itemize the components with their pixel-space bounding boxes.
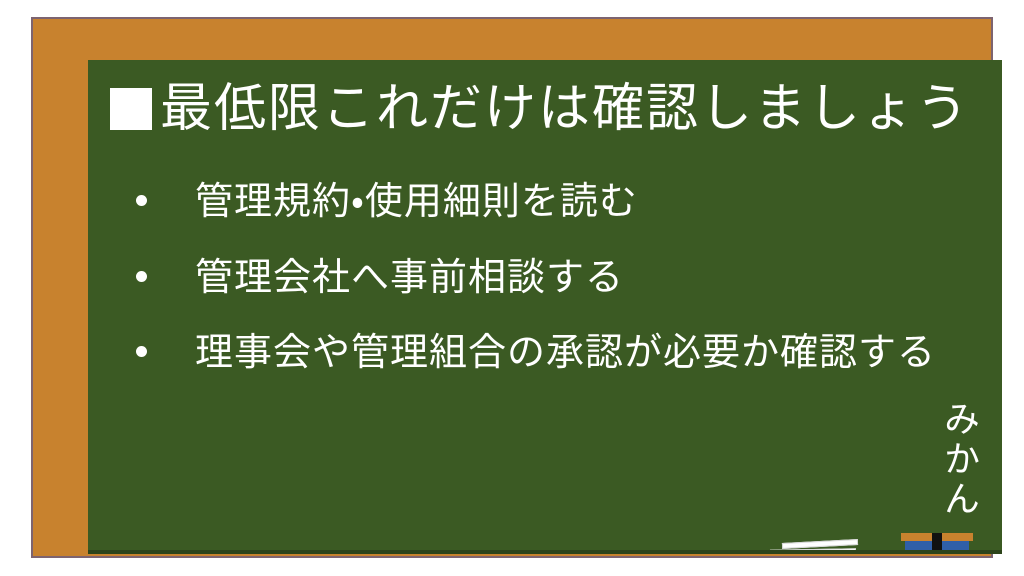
bullet-dot-icon (136, 271, 147, 282)
list-item: 理事会や管理組合の承認が必要か確認する (136, 329, 996, 377)
slide-title: 最低限これだけは確認しましょう (110, 82, 994, 137)
blackboard-surface: 最低限これだけは確認しましょう 管理規約・使用細則を読む 管理会社へ事前相談する… (88, 60, 1002, 554)
bullet-dot-icon (136, 346, 147, 357)
bullet-dot-icon (136, 195, 147, 206)
title-square-marker-icon (110, 88, 152, 130)
list-item: 管理規約・使用細則を読む (136, 178, 996, 226)
blackboard-wooden-frame: 最低限これだけは確認しましょう 管理規約・使用細則を読む 管理会社へ事前相談する… (31, 17, 993, 558)
list-item-label: 管理規約・使用細則を読む (195, 178, 638, 226)
title-text: 最低限これだけは確認しましょう (160, 82, 970, 137)
slide-canvas: 最低限これだけは確認しましょう 管理規約・使用細則を読む 管理会社へ事前相談する… (0, 0, 1024, 576)
board-bottom-shadow (88, 550, 1002, 554)
list-item-label: 理事会や管理組合の承認が必要か確認する (195, 329, 936, 377)
list-item-label: 管理会社へ事前相談する (195, 254, 624, 302)
bullet-list: 管理規約・使用細則を読む 管理会社へ事前相談する 理事会や管理組合の承認が必要か… (136, 178, 996, 405)
author-signature: みかん (936, 400, 980, 520)
list-item: 管理会社へ事前相談する (136, 254, 996, 302)
